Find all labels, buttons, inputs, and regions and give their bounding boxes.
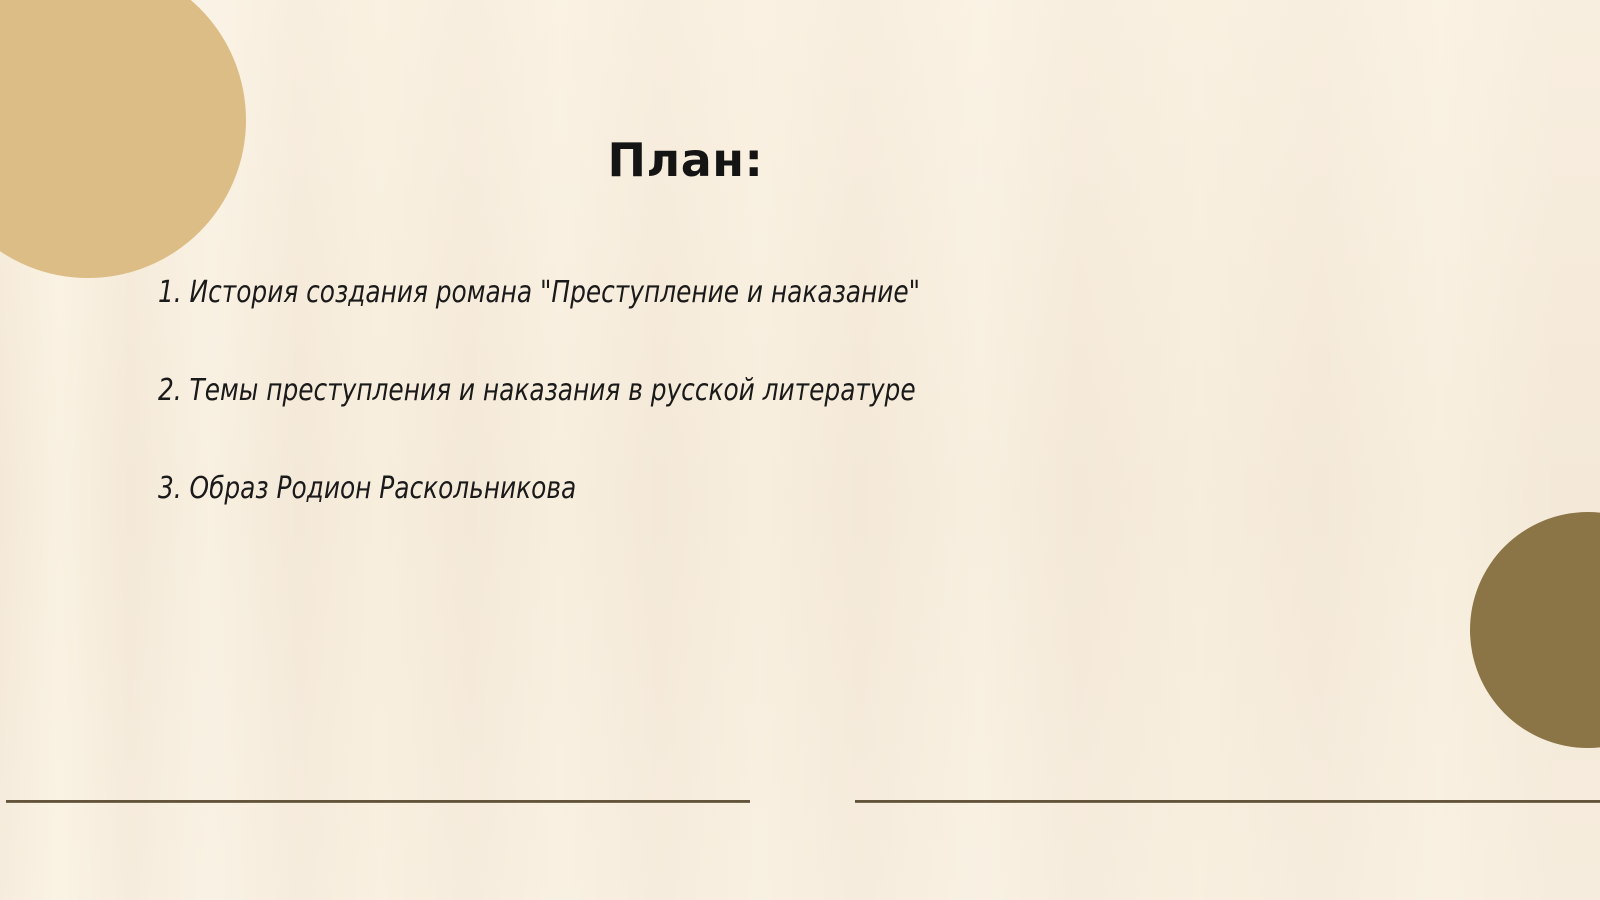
slide-title: План: <box>0 131 1371 189</box>
footer-rule-right <box>855 800 1600 803</box>
plan-list-item: 3. Образ Родион Раскольникова <box>158 469 1262 509</box>
presentation-slide: План: 1. История создания романа "Престу… <box>0 0 1600 900</box>
decorative-circle-bottom-right <box>1470 512 1600 748</box>
footer-rule-left <box>6 800 750 803</box>
plan-list-item: 2. Темы преступления и наказания в русск… <box>158 371 1262 411</box>
plan-list: 1. История создания романа "Преступление… <box>158 273 1358 509</box>
plan-list-item: 1. История создания романа "Преступление… <box>158 273 1262 313</box>
